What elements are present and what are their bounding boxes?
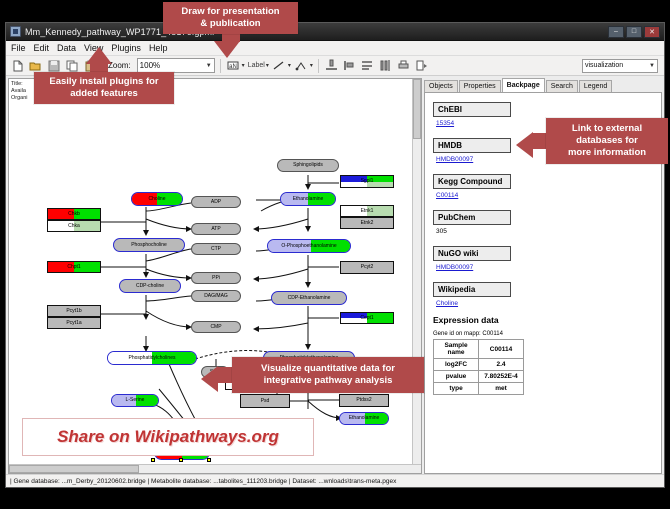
pathway-node-sgpl1[interactable]: Sgpl1 bbox=[340, 175, 394, 188]
selection-handle[interactable] bbox=[179, 458, 183, 462]
db-link-nugo-wiki[interactable]: HMDB00097 bbox=[436, 264, 661, 271]
visualization-select[interactable]: visualization ▼ bbox=[582, 59, 658, 73]
chevron-down-icon: ▾ bbox=[242, 62, 245, 69]
db-link-kegg-compound[interactable]: C00114 bbox=[436, 192, 661, 199]
gene-id-on-mapp: Gene id on mapp: C00114 bbox=[433, 331, 661, 337]
callout-links-stem bbox=[533, 133, 547, 149]
expr-val-pvalue: 7.80252E-4 bbox=[479, 371, 524, 383]
node-label: CDP-Ethanolamine bbox=[288, 296, 331, 301]
datanode-dropdown[interactable]: aN ▾ bbox=[226, 58, 245, 73]
chevron-down-icon: ▾ bbox=[310, 62, 313, 69]
line-dropdown[interactable]: ▾ bbox=[272, 58, 291, 73]
expression-data-title: Expression data bbox=[433, 315, 661, 325]
print-icon[interactable] bbox=[396, 58, 411, 73]
node-label: PPi bbox=[212, 276, 220, 281]
menu-item-plugins[interactable]: Plugins bbox=[111, 43, 141, 53]
callout-visualize-arrow bbox=[201, 366, 218, 392]
pathway-node-cdp-ethanolamine[interactable]: CDP-Ethanolamine bbox=[271, 291, 347, 305]
pathway-node-pcyt1a[interactable]: Pcyt1a bbox=[47, 317, 101, 329]
align-bottom-icon[interactable] bbox=[324, 58, 339, 73]
node-label: Chka bbox=[68, 224, 80, 229]
expr-key-log2fc: log2FC bbox=[434, 359, 479, 371]
pathway-node-chka[interactable]: Chka bbox=[47, 220, 101, 232]
node-label: DAG/MAG bbox=[204, 294, 228, 299]
callout-visualize: Visualize quantitative data for integrat… bbox=[232, 357, 424, 393]
distribute-vertical-icon[interactable] bbox=[378, 58, 393, 73]
expr-val-sample-name: C00114 bbox=[479, 340, 524, 359]
callout-draw-line2: & publication bbox=[200, 18, 260, 30]
expr-key-sample-name: Sample name bbox=[434, 340, 479, 359]
callout-share-text: Share on Wikipathways.org bbox=[57, 427, 279, 447]
callout-links-line2: databases for bbox=[576, 135, 638, 147]
chevron-down-icon: ▾ bbox=[288, 62, 291, 69]
node-label: Psd bbox=[261, 399, 270, 404]
pathway-node-pcyt1b[interactable]: Pcyt1b bbox=[47, 305, 101, 317]
zoom-combobox[interactable]: 100% ▼ bbox=[137, 58, 215, 73]
selection-handle[interactable] bbox=[207, 458, 211, 462]
node-label: Etnk2 bbox=[361, 221, 374, 226]
interaction-icon bbox=[294, 58, 309, 73]
stack-horizontal-icon[interactable] bbox=[360, 58, 375, 73]
tab-search[interactable]: Search bbox=[546, 80, 578, 92]
node-label: Phosphatidylcholines bbox=[129, 356, 176, 361]
node-label: O-Phosphoethanolamine bbox=[281, 244, 336, 249]
open-folder-icon[interactable] bbox=[28, 58, 43, 73]
pathway-node-adp[interactable]: ADP bbox=[191, 196, 241, 208]
chevron-down-icon: ▼ bbox=[649, 63, 655, 69]
pathway-canvas[interactable]: Title: Availa Organi bbox=[8, 78, 422, 474]
callout-draw-arrow bbox=[214, 41, 240, 58]
db-header-hmdb: HMDB bbox=[433, 138, 511, 153]
label-dropdown-text: Label bbox=[248, 62, 265, 69]
pathway-node-o-phosphoethanolamine[interactable]: O-Phosphoethanolamine bbox=[267, 239, 351, 253]
canvas-vertical-scrollbar[interactable] bbox=[412, 79, 421, 464]
pathway-node-cept1[interactable]: Cept1 bbox=[340, 312, 394, 324]
close-button[interactable]: ✕ bbox=[644, 26, 660, 38]
table-row: log2FC 2.4 bbox=[434, 359, 524, 371]
pathway-node-phosphocholine[interactable]: Phosphocholine bbox=[113, 238, 185, 252]
svg-text:aN: aN bbox=[229, 64, 237, 70]
pathway-node-cdp-choline[interactable]: CDP-choline bbox=[119, 279, 181, 293]
pathway-node-ethanolamine-bottom[interactable]: Ethanolamine bbox=[339, 412, 389, 425]
node-label: CTP bbox=[211, 247, 221, 252]
callout-links-arrow bbox=[516, 132, 533, 158]
expr-key-pvalue: pvalue bbox=[434, 371, 479, 383]
maximize-button[interactable]: □ bbox=[626, 26, 642, 38]
zoom-value: 100% bbox=[140, 61, 160, 70]
table-row: Sample name C00114 bbox=[434, 340, 524, 359]
new-file-icon[interactable] bbox=[10, 58, 25, 73]
tab-backpage[interactable]: Backpage bbox=[502, 78, 545, 92]
db-value-pubchem: 305 bbox=[436, 228, 661, 235]
tab-properties[interactable]: Properties bbox=[459, 80, 501, 92]
callout-visualize-line2: integrative pathway analysis bbox=[264, 375, 393, 387]
callout-plugins-arrow bbox=[86, 47, 112, 64]
expr-val-type: met bbox=[479, 383, 524, 395]
db-header-pubchem: PubChem bbox=[433, 210, 511, 225]
pathway-node-pcyt2[interactable]: Pcyt2 bbox=[340, 261, 394, 274]
expression-data-table: Sample name C00114 log2FC 2.4 pvalue 7.8… bbox=[433, 339, 524, 395]
title-bar: Mm_Kennedy_pathway_WP1771_45176.gpml – □… bbox=[6, 23, 664, 41]
canvas-horizontal-scrollbar[interactable] bbox=[9, 464, 421, 473]
pathvisio-app-icon bbox=[10, 26, 21, 37]
callout-plugins: Easily install plugins for added feature… bbox=[34, 72, 174, 104]
callout-visualize-line1: Visualize quantitative data for bbox=[261, 363, 395, 375]
node-label: CDP-choline bbox=[136, 284, 164, 289]
expr-key-type: type bbox=[434, 383, 479, 395]
db-header-wikipedia: Wikipedia bbox=[433, 282, 511, 297]
db-header-kegg-compound: Kegg Compound bbox=[433, 174, 511, 189]
pathway-node-chpt1[interactable]: Chpt1 bbox=[47, 261, 101, 273]
pathway-node-l-serine-left[interactable]: L-Serine bbox=[111, 394, 159, 407]
toolbar-separator bbox=[220, 59, 221, 73]
node-label: CMP bbox=[210, 325, 221, 330]
node-label: Sphingolipids bbox=[293, 163, 323, 168]
menu-item-help[interactable]: Help bbox=[149, 43, 168, 53]
tab-objects[interactable]: Objects bbox=[424, 80, 458, 92]
pathway-node-ethanolamine[interactable]: Ethanolamine bbox=[280, 192, 336, 206]
pathway-node-chkb[interactable]: Chkb bbox=[47, 208, 101, 220]
callout-plugins-line2: added features bbox=[70, 88, 138, 100]
minimize-button[interactable]: – bbox=[608, 26, 624, 38]
callout-draw: Draw for presentation & publication bbox=[163, 2, 298, 34]
align-left-icon[interactable] bbox=[342, 58, 357, 73]
node-label: Chkb bbox=[68, 212, 80, 217]
callout-visualize-stem bbox=[218, 367, 233, 383]
menu-item-file[interactable]: File bbox=[11, 43, 26, 53]
visualization-value: visualization bbox=[585, 62, 623, 69]
pathway-node-ppi[interactable]: PPi bbox=[191, 272, 241, 284]
pathway-node-etnk2[interactable]: Etnk2 bbox=[340, 217, 394, 229]
node-label: Choline bbox=[149, 197, 166, 202]
node-label: Phosphocholine bbox=[131, 243, 167, 248]
pathway-node-psd[interactable]: Psd bbox=[240, 394, 290, 408]
callout-links-line1: Link to external bbox=[572, 123, 642, 135]
node-label: ATP bbox=[211, 227, 220, 232]
node-label: Etnk1 bbox=[361, 209, 374, 214]
pathway-node-etnk1[interactable]: Etnk1 bbox=[340, 205, 394, 217]
menu-item-data[interactable]: Data bbox=[57, 43, 76, 53]
status-bar: | Gene database: ...m_Derby_20120602.bri… bbox=[6, 474, 664, 487]
chevron-down-icon: ▼ bbox=[206, 63, 212, 69]
label-dropdown[interactable]: Label ▾ bbox=[248, 62, 269, 69]
callout-plugins-line1: Easily install plugins for bbox=[49, 76, 158, 88]
table-row: type met bbox=[434, 383, 524, 395]
pathway-node-cmp[interactable]: CMP bbox=[191, 321, 241, 333]
pathway-node-atp[interactable]: ATP bbox=[191, 223, 241, 235]
node-label: Pcyt1a bbox=[66, 321, 81, 326]
table-row: pvalue 7.80252E-4 bbox=[434, 371, 524, 383]
callout-share: Share on Wikipathways.org bbox=[22, 418, 314, 456]
node-label: L-Serine bbox=[126, 398, 145, 403]
node-label: Chpt1 bbox=[67, 265, 80, 270]
node-label: Ptdss2 bbox=[356, 398, 371, 403]
save-icon[interactable] bbox=[46, 58, 61, 73]
window-buttons: – □ ✕ bbox=[608, 26, 660, 38]
node-label: Pcyt1b bbox=[66, 309, 81, 314]
menu-item-edit[interactable]: Edit bbox=[34, 43, 50, 53]
pathway-node-phosphatidylcholines[interactable]: Phosphatidylcholines bbox=[107, 351, 197, 365]
copy-icon[interactable] bbox=[64, 58, 79, 73]
db-link-wikipedia[interactable]: Choline bbox=[436, 300, 661, 307]
toolbar-separator bbox=[318, 59, 319, 73]
callout-links: Link to external databases for more info… bbox=[546, 118, 668, 164]
page-setup-icon[interactable] bbox=[414, 58, 429, 73]
pathway-node-dag-mag[interactable]: DAG/MAG bbox=[191, 290, 241, 302]
datanode-icon: aN bbox=[226, 58, 241, 73]
node-label: Cept1 bbox=[360, 316, 373, 321]
pathway-node-sphingolipids[interactable]: Sphingolipids bbox=[277, 159, 339, 172]
line-icon bbox=[272, 58, 287, 73]
node-label: Ethanolamine bbox=[293, 197, 324, 202]
db-header-nugo-wiki: NuGO wiki bbox=[433, 246, 511, 261]
pathway-node-ptdss2[interactable]: Ptdss2 bbox=[339, 394, 389, 407]
tab-legend[interactable]: Legend bbox=[579, 80, 612, 92]
callout-links-line3: more information bbox=[568, 147, 646, 159]
chevron-down-icon: ▾ bbox=[266, 62, 269, 69]
expr-val-log2fc: 2.4 bbox=[479, 359, 524, 371]
pathway-node-choline-top[interactable]: Choline bbox=[131, 192, 183, 206]
node-label: ADP bbox=[211, 200, 221, 205]
node-label: Ethanolamine bbox=[349, 416, 380, 421]
db-header-chebi: ChEBI bbox=[433, 102, 511, 117]
node-label: Pcyt2 bbox=[361, 265, 374, 270]
node-label: Sgpl1 bbox=[361, 179, 374, 184]
side-panel-tabs: Objects Properties Backpage Search Legen… bbox=[424, 78, 662, 92]
status-bar-text: | Gene database: ...m_Derby_20120602.bri… bbox=[10, 478, 396, 485]
pathway-node-ctp[interactable]: CTP bbox=[191, 243, 241, 255]
shape-dropdown[interactable]: ▾ bbox=[294, 58, 313, 73]
callout-draw-line1: Draw for presentation bbox=[181, 6, 279, 18]
selection-handle[interactable] bbox=[151, 458, 155, 462]
